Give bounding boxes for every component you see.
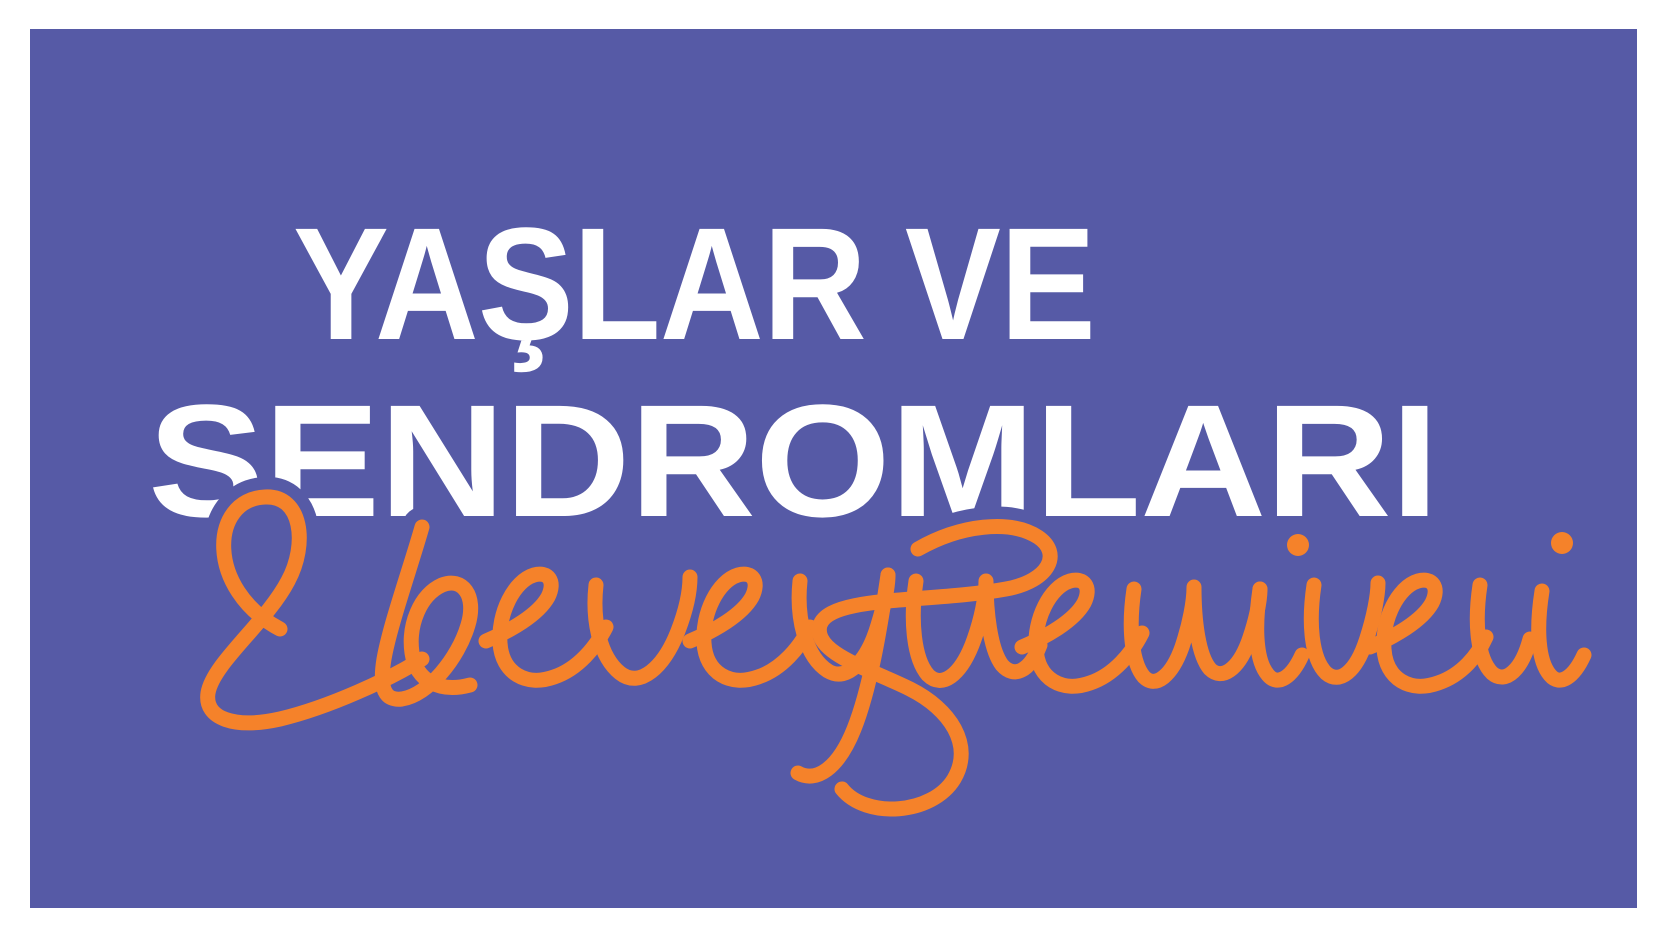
- poster-canvas: YAŞLAR VE SENDROMLARI: [0, 0, 1667, 938]
- script-glyph-n2: [1311, 583, 1378, 677]
- script-glyph-m: [1131, 587, 1260, 681]
- purple-panel: YAŞLAR VE SENDROMLARI: [30, 29, 1637, 908]
- script-glyph-i2-dot: [1551, 532, 1573, 554]
- script-glyph-i1-dot: [1287, 534, 1309, 556]
- headline-line-2: SENDROMLARI: [148, 371, 1438, 550]
- script-glyph-i2-stem: [1539, 591, 1584, 680]
- script-glyph-i1-stem: [1257, 589, 1302, 680]
- headline-group: YAŞLAR VE SENDROMLARI: [148, 194, 1438, 550]
- title-artwork: YAŞLAR VE SENDROMLARI: [30, 29, 1637, 908]
- script-glyph-r: [1477, 585, 1530, 677]
- headline-line-1: YAŞLAR VE: [293, 194, 1095, 373]
- script-glyph-e4: [1370, 580, 1486, 686]
